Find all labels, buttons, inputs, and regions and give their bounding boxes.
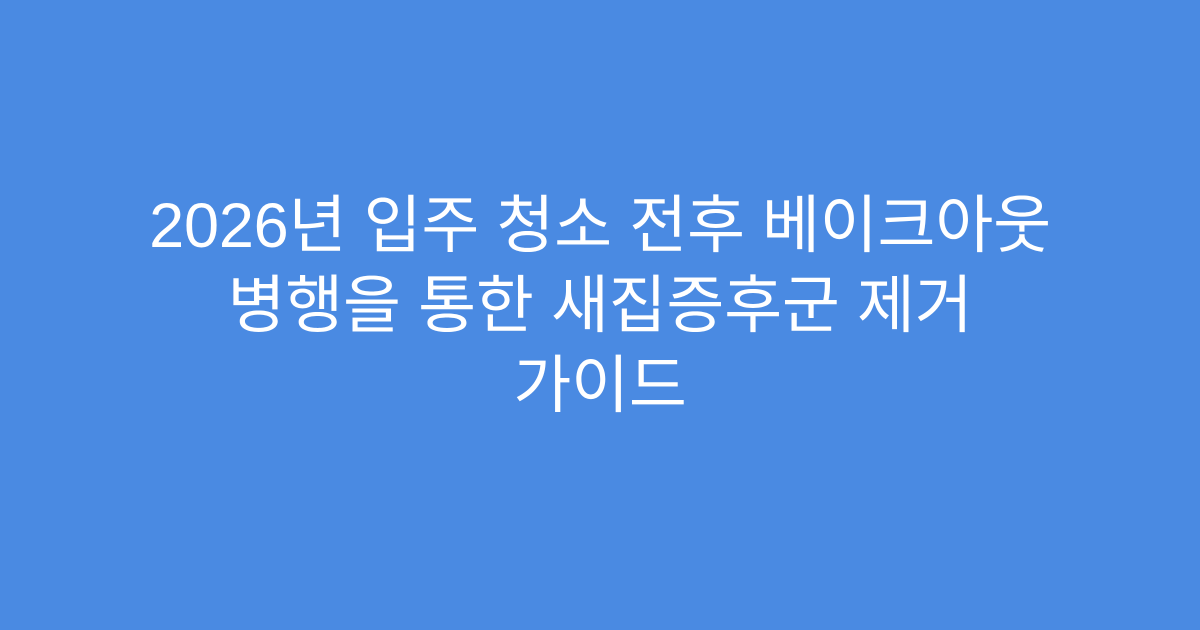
page-title: 2026년 입주 청소 전후 베이크아웃 병행을 통한 새집증후군 제거 가이드 [60, 186, 1140, 426]
title-line-3: 가이드 [80, 346, 1120, 426]
og-card: 2026년 입주 청소 전후 베이크아웃 병행을 통한 새집증후군 제거 가이드 [0, 0, 1200, 630]
title-line-2: 병행을 통한 새집증후군 제거 [80, 266, 1120, 346]
title-line-1: 2026년 입주 청소 전후 베이크아웃 [80, 186, 1120, 266]
